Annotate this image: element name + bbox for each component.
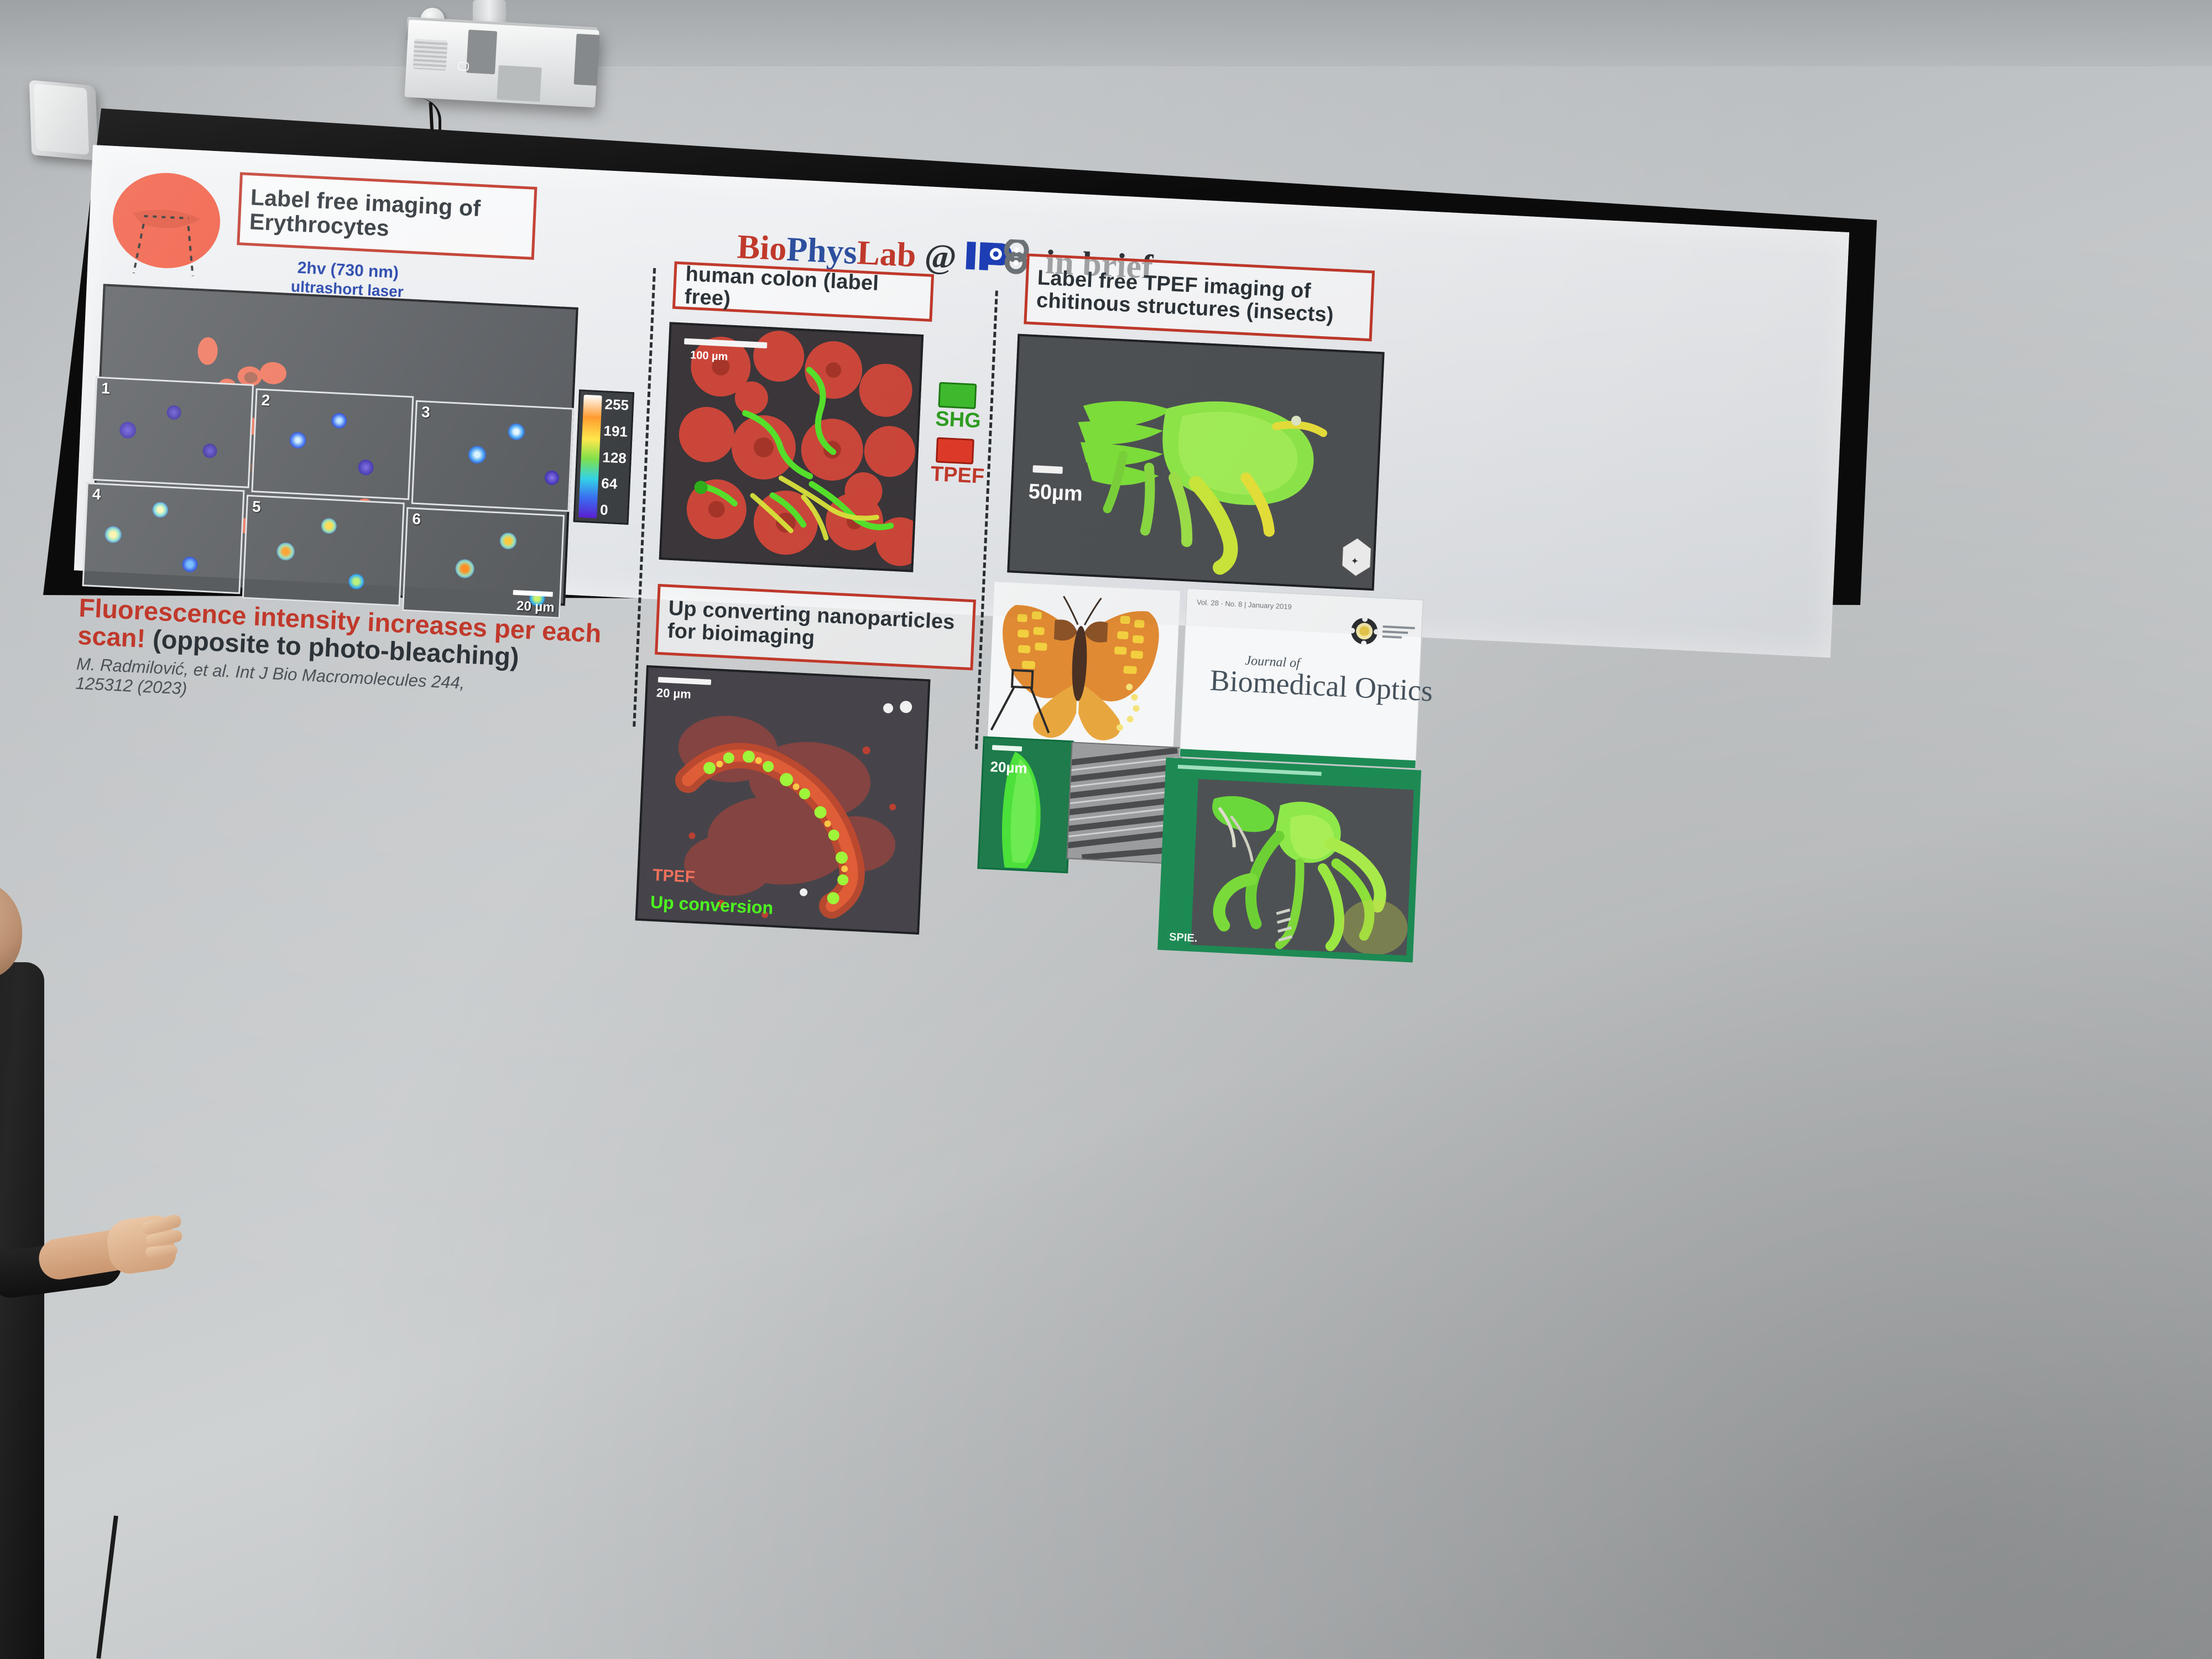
mantis-micrograph (1191, 779, 1414, 956)
legend-label-tpef: TPEF (930, 462, 985, 489)
spot (358, 460, 374, 476)
spie-rule (1178, 765, 1322, 776)
projector-vent (413, 39, 448, 70)
journal-publisher-lines (1382, 623, 1415, 642)
projector-lens (497, 65, 541, 102)
lut-ticks: 255 191 128 64 0 (599, 396, 629, 520)
scan-panel-4-number: 4 (92, 486, 101, 504)
projector-panel-left (466, 30, 497, 75)
spot (202, 444, 217, 458)
insect-scalebar-label: 50µm (1028, 480, 1083, 506)
scan-panel-1: 1 (91, 377, 254, 488)
left-header-text: Label free imaging of Erythrocytes (249, 185, 525, 247)
insect-chitin-image: 50µm ✦ (1009, 336, 1385, 591)
scan-panel-5: 5 (242, 495, 405, 607)
butterfly-icon (987, 582, 1180, 757)
scan-panel-3: 3 (411, 400, 574, 512)
right-header-box: Label free TPEF imaging of chitinous str… (1024, 253, 1375, 341)
ceiling-band (0, 0, 2212, 66)
spot (348, 573, 364, 589)
title-lab: Lab (856, 234, 917, 274)
scan-panel-2: 2 (251, 388, 414, 500)
svg-text:✦: ✦ (1350, 556, 1359, 567)
presenter-hand (105, 1213, 178, 1276)
lut-tick-128: 128 (602, 448, 627, 467)
scan-panel-1-number: 1 (101, 379, 111, 398)
spot (276, 542, 295, 561)
finger-ring (145, 1244, 178, 1258)
butterfly-scale-inset: 20µm (977, 736, 1073, 873)
legend-swatch-shg (938, 382, 977, 409)
colon-scalebar-label: 100 µm (690, 349, 728, 363)
spot (468, 445, 486, 464)
butterfly-inset-scalebar-label: 20µm (990, 758, 1027, 776)
journal-volume-line: Vol. 28 · No. 8 | January 2019 (1197, 598, 1292, 611)
projector-panel-right (573, 34, 599, 86)
panel-scalebar-label: 20 µm (516, 598, 555, 615)
scan-panel-2-number: 2 (261, 392, 270, 410)
presentation-slide: BioPhysLab @ in brief Label free imaging… (74, 145, 1849, 658)
scale-structure-green: 20µm (979, 738, 1072, 872)
scan-panel-4: 4 (82, 482, 244, 594)
spot (105, 526, 122, 543)
legend-label-shg: SHG (935, 407, 981, 433)
lut-tick-191: 191 (603, 422, 628, 440)
lut-gradient (578, 395, 602, 518)
spot (544, 470, 559, 485)
spot (331, 413, 347, 429)
nanoparticle-micrograph: 20 µm TPEF Up conversion (635, 665, 931, 935)
spot (499, 532, 517, 549)
spot (119, 421, 136, 439)
scan-panel-6: 6 20 µm (402, 507, 565, 619)
butterfly-photo (987, 582, 1180, 757)
scan-panel-5-number: 5 (252, 498, 261, 516)
spot (455, 559, 474, 579)
left-header-box: Label free imaging of Erythrocytes (237, 172, 537, 260)
journal-cover: Vol. 28 · No. 8 | January 2019 Journal o… (1180, 588, 1423, 769)
lut-colorbar: 255 191 128 64 0 (573, 389, 635, 525)
insect-micrograph: 50µm ✦ (1007, 334, 1384, 591)
spot (289, 431, 306, 448)
journal-title-main: Biomedical Optics (1209, 663, 1434, 708)
erythrocyte-diagram-icon (107, 169, 228, 280)
spot (508, 423, 525, 440)
legend-swatch-tpef (936, 437, 974, 465)
nanoparticle-scalebar-label: 20 µm (656, 686, 691, 701)
spie-sunburst-icon (1349, 615, 1380, 647)
spot (182, 556, 198, 572)
scan-panel-6-number: 6 (412, 510, 421, 529)
projected-slide-area[interactable]: BioPhysLab @ in brief Label free imaging… (74, 145, 1849, 658)
colon-tissue-image: 100 µm (661, 324, 924, 572)
middle-header-text: human colon (label free) (684, 263, 922, 320)
scan-panel-3-number: 3 (421, 403, 430, 421)
title-phys: Phys (786, 231, 858, 272)
title-bio: Bio (736, 228, 787, 268)
mantis-chitin-image (1191, 779, 1414, 956)
title-at: @ (915, 237, 966, 276)
lut-tick-255: 255 (604, 396, 629, 414)
spot (166, 405, 181, 420)
wall-speaker-left (29, 80, 98, 160)
presenter-torso (0, 962, 44, 1659)
spie-cover-panel: SPIE. (1157, 758, 1421, 963)
lut-tick-0: 0 (599, 501, 624, 519)
lut-tick-64: 64 (601, 475, 626, 493)
panel-scalebar (513, 590, 553, 597)
nanoparticle-label-tpef: TPEF (653, 866, 696, 886)
nanoparticle-worm-image: 20 µm TPEF Up conversion (637, 667, 930, 935)
spot (152, 502, 168, 518)
conference-room: BioPhysLab @ in brief Label free imaging… (0, 0, 2212, 1659)
presenter (0, 879, 199, 1659)
human-colon-micrograph: 100 µm (659, 322, 924, 572)
spie-logo-text: SPIE. (1169, 931, 1198, 946)
spot (321, 518, 337, 534)
projector-power-button[interactable] (458, 61, 469, 71)
